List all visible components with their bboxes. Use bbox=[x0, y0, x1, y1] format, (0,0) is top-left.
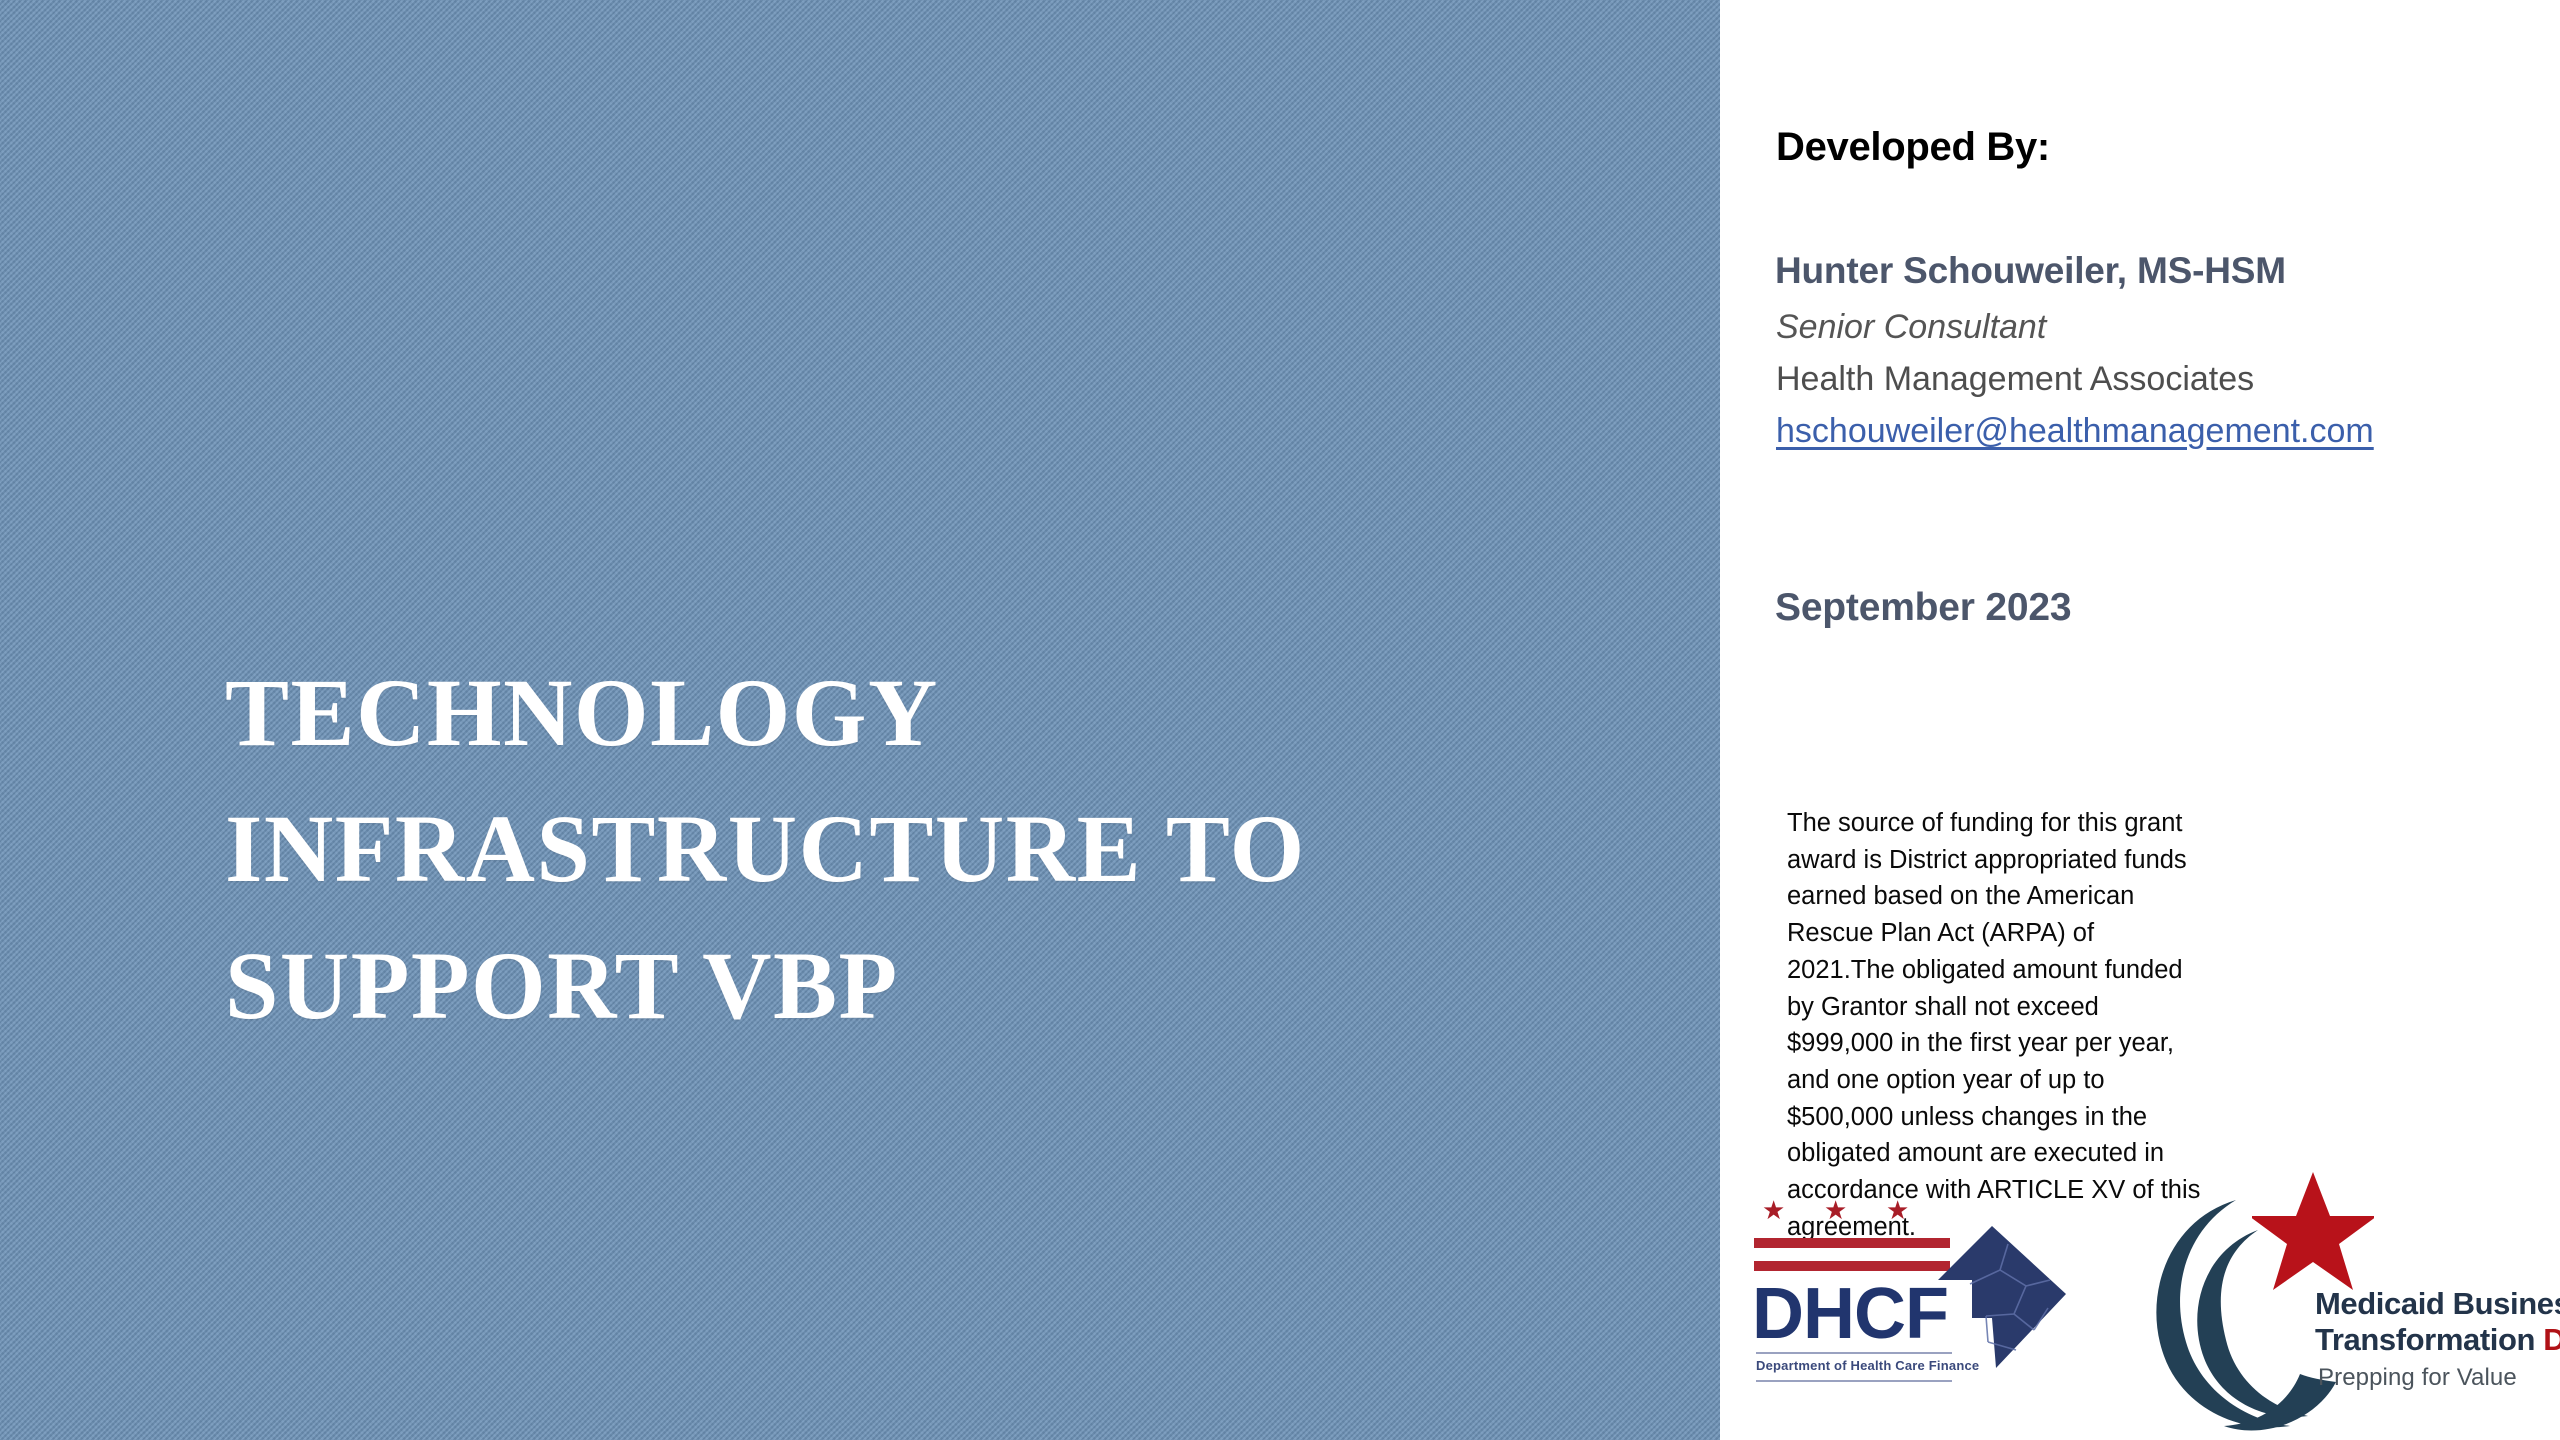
content-column: Developed By: Hunter Schouweiler, MS-HSM… bbox=[1720, 0, 2560, 1440]
logo-row: ★ ★ ★ DHCF Department of Health Care Fin… bbox=[1720, 1160, 2560, 1440]
dc-map-icon bbox=[1930, 1222, 2070, 1372]
dhcf-flag-bar bbox=[1754, 1238, 1950, 1248]
divider bbox=[1756, 1380, 1952, 1382]
mbt-line-2-main: Transformation bbox=[2315, 1322, 2543, 1357]
star-icon: ★ bbox=[1824, 1200, 1846, 1222]
mbt-tagline: Prepping for Value bbox=[2318, 1364, 2517, 1392]
star-icon: ★ bbox=[1886, 1200, 1908, 1222]
dhcf-flag-bar bbox=[1754, 1261, 1950, 1271]
dhcf-stars-group: ★ ★ ★ bbox=[1758, 1200, 1958, 1230]
title-slide: Technology Infrastructure to Support VBP… bbox=[0, 0, 2560, 1440]
mbt-line-1: Medicaid Business bbox=[2315, 1286, 2560, 1322]
star-icon bbox=[2252, 1170, 2374, 1292]
author-organization: Health Management Associates bbox=[1776, 360, 2254, 399]
author-name: Hunter Schouweiler, MS-HSM bbox=[1775, 250, 2286, 292]
author-role: Senior Consultant bbox=[1776, 308, 2046, 347]
divider bbox=[1756, 1352, 1952, 1354]
dhcf-acronym: DHCF bbox=[1752, 1278, 1948, 1350]
mbt-line-2: Transformation DC bbox=[2315, 1322, 2560, 1358]
author-email-link[interactable]: hschouweiler@healthmanagement.com bbox=[1776, 412, 2374, 451]
dhcf-logo: ★ ★ ★ DHCF Department of Health Care Fin… bbox=[1754, 1200, 2064, 1396]
developed-by-heading: Developed By: bbox=[1776, 125, 2050, 170]
mbt-dc-accent: DC bbox=[2543, 1322, 2560, 1357]
title-panel: Technology Infrastructure to Support VBP bbox=[0, 0, 1720, 1440]
star-icon: ★ bbox=[1762, 1200, 1784, 1222]
publication-date: September 2023 bbox=[1775, 586, 2071, 630]
medicaid-business-transformation-logo: Medicaid Business Transformation DC Prep… bbox=[2140, 1168, 2540, 1436]
page-title: Technology Infrastructure to Support VBP bbox=[225, 645, 1645, 1054]
